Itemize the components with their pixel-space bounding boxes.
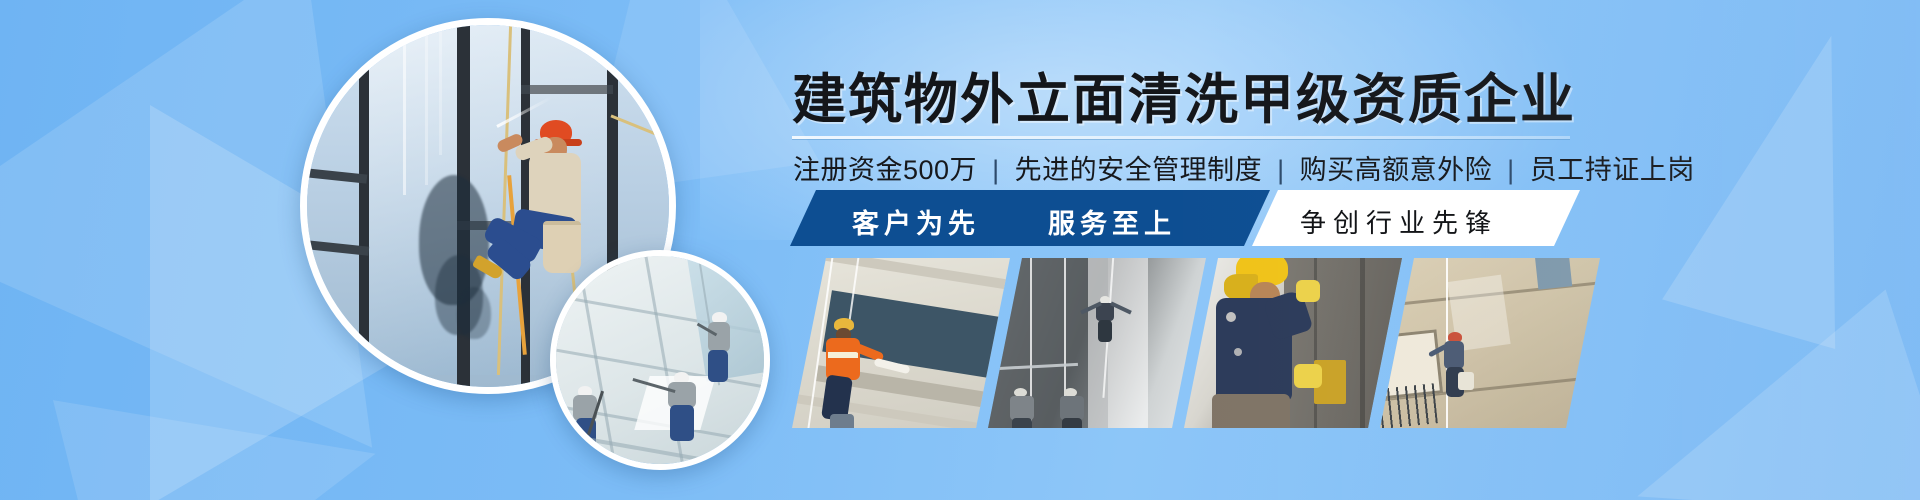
subtitle-part-4: 员工持证上岗 xyxy=(1530,155,1695,185)
subtitle-separator: | xyxy=(1270,155,1292,185)
promotional-banner: 建筑物外立面清洗甲级资质企业 注册资金500万 | 先进的安全管理制度 | 购买… xyxy=(0,0,1920,500)
strip-photo-3 xyxy=(1184,258,1402,428)
two-workers-cleaning-white-facade-photo xyxy=(556,256,764,464)
subtitle-separator: | xyxy=(1500,155,1522,185)
circle-photo-small xyxy=(550,250,770,470)
strip-photo-1 xyxy=(792,258,1010,428)
banner-headline: 建筑物外立面清洗甲级资质企业 xyxy=(792,55,1576,134)
subtitle-part-1: 注册资金500万 xyxy=(793,155,977,185)
background-triangle-shapes xyxy=(1662,11,1918,349)
subtitle-part-2: 先进的安全管理制度 xyxy=(1015,155,1263,185)
strip-photo-4 xyxy=(1380,258,1600,428)
banner-subtitle: 注册资金500万 | 先进的安全管理制度 | 购买高额意外险 | 员工持证上岗 xyxy=(793,148,1695,187)
slogan-text-3: 争创行业先锋 xyxy=(1300,203,1498,240)
headline-divider xyxy=(792,136,1570,139)
strip-photo-2 xyxy=(988,258,1206,428)
background-triangle-shapes xyxy=(1600,290,1920,500)
subtitle-part-3: 购买高额意外险 xyxy=(1300,155,1493,185)
subtitle-separator: | xyxy=(985,155,1007,185)
slogan-text-2: 服务至上 xyxy=(1048,202,1176,241)
slogan-ribbon: 客户为先 服务至上 争创行业先锋 xyxy=(790,190,1580,246)
photo-strip xyxy=(792,258,1582,428)
slogan-text-1: 客户为先 xyxy=(852,202,980,241)
